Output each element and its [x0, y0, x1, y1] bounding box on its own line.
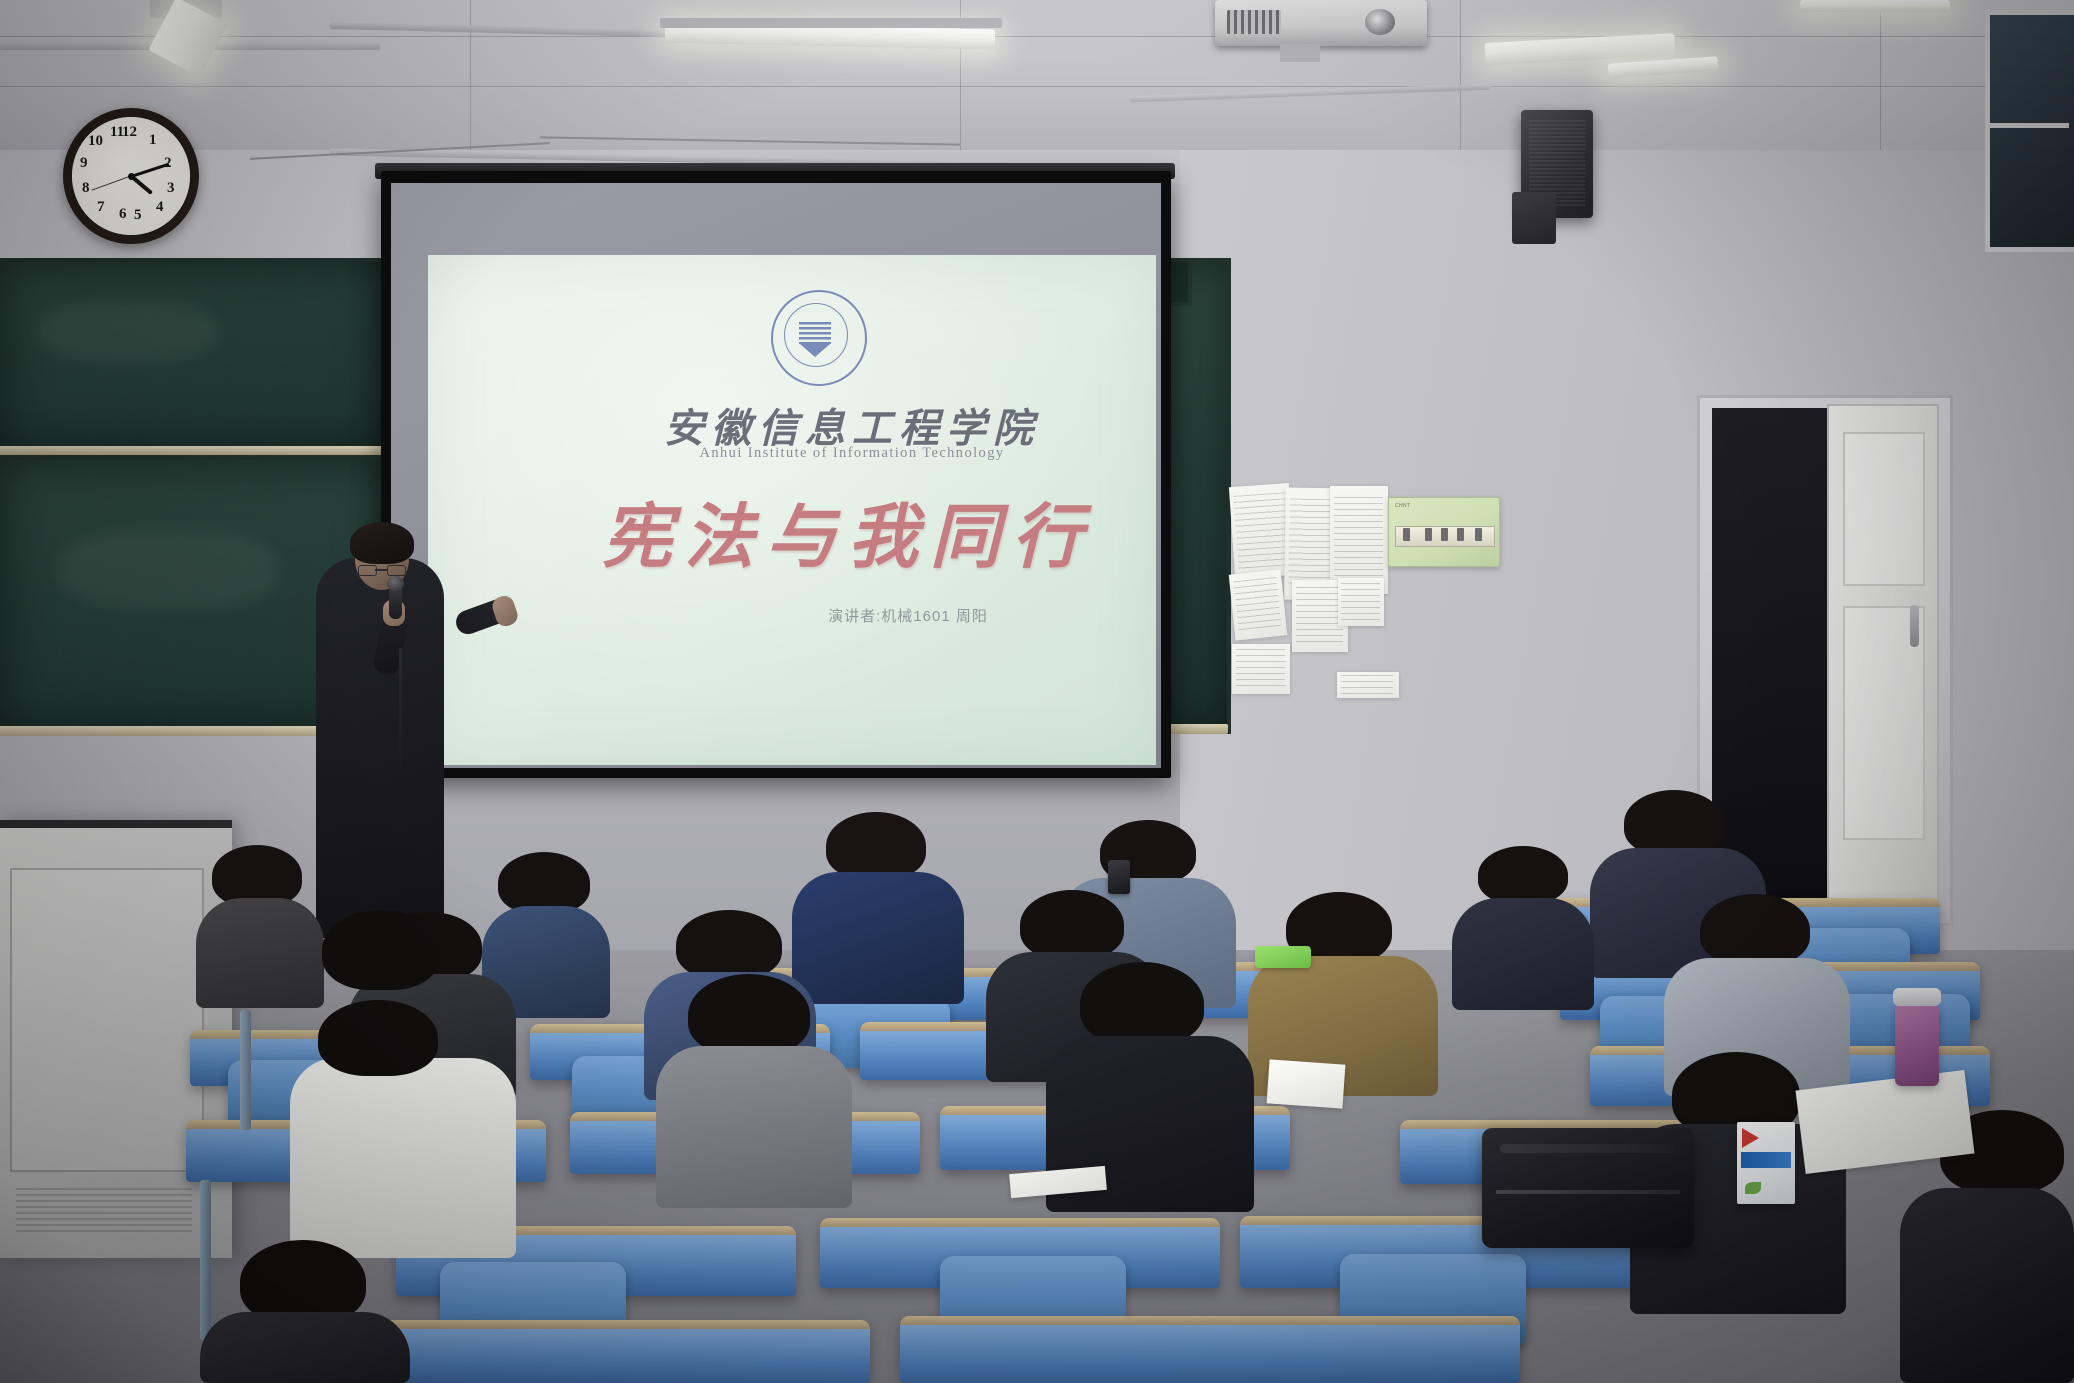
slide-institution-en: Anhui Institute of Information Technolog… [642, 445, 1062, 462]
window [1985, 10, 2074, 252]
projector-vent-icon [1227, 10, 1281, 34]
presenter-torso [316, 558, 444, 938]
speaker-mount-bracket [1512, 192, 1556, 244]
milk-logo-icon [1742, 1128, 1759, 1148]
mobile-phone[interactable] [1108, 860, 1130, 894]
door-panel [1843, 432, 1925, 586]
chalk-rail [0, 446, 386, 455]
doorway-opening [1712, 408, 1827, 908]
chalkboard-left-upper [0, 258, 394, 456]
green-object [1255, 946, 1311, 968]
clock-number: 1 [149, 132, 157, 149]
wall-notice [1338, 578, 1384, 626]
ceiling-projector [1215, 0, 1427, 46]
wall-clock: 12 1 2 3 4 5 6 7 8 9 10 11 [63, 108, 199, 244]
clock-number: 5 [134, 207, 142, 224]
bag-zipper-icon [1496, 1190, 1680, 1194]
lectern-cabinet-door [10, 868, 204, 1172]
breaker-switch [1425, 528, 1432, 541]
presentation-slide: 安徽信息工程学院 Anhui Institute of Information … [428, 255, 1156, 765]
clock-number: 4 [156, 199, 164, 216]
seal-book-icon [799, 322, 831, 344]
desk [900, 1316, 1520, 1383]
ceiling-seam [470, 0, 471, 150]
ceiling-light [1800, 0, 1950, 12]
paper-sheet [1267, 1059, 1346, 1108]
slide-byline: 演讲者:机械1601 周阳 [728, 605, 1088, 626]
clock-number: 7 [97, 199, 105, 216]
clock-number: 9 [80, 155, 88, 172]
ceiling-seam [0, 36, 2074, 37]
seal-chevron-icon [800, 344, 830, 357]
breaker-switch [1475, 528, 1482, 541]
microphone-head-icon [387, 576, 404, 591]
door-leaf[interactable] [1827, 404, 1939, 914]
water-bottle-lid [1893, 988, 1941, 1006]
desk-leg [200, 1180, 211, 1340]
window-mullion [1990, 123, 2069, 128]
clock-center-pin [128, 173, 135, 180]
microphone-cord [399, 648, 402, 798]
clock-number: 8 [82, 180, 90, 197]
clock-number: 11 [110, 124, 124, 141]
glasses-icon [358, 565, 404, 574]
panel-brand-label: CHNT [1395, 503, 1411, 509]
ceiling-seam [0, 86, 2074, 87]
electrical-panel: CHNT [1388, 497, 1500, 567]
wall-notice [1232, 644, 1290, 694]
breaker-switch [1457, 528, 1464, 541]
ceiling-seam [1880, 0, 1881, 150]
water-bottle [1895, 1002, 1939, 1086]
breaker-switch [1403, 528, 1410, 541]
classroom-scene: 12 1 2 3 4 5 6 7 8 9 10 11 [0, 0, 2074, 1383]
university-seal-icon [771, 290, 867, 386]
clock-number: 6 [119, 206, 127, 223]
wall-notice [1229, 569, 1288, 640]
bag-strap [1500, 1144, 1676, 1153]
presenter-hair [350, 522, 414, 564]
clock-number: 3 [167, 180, 175, 197]
door-handle[interactable] [1910, 605, 1919, 647]
milk-label-band [1741, 1152, 1791, 1168]
breaker-switch [1441, 528, 1448, 541]
clock-number: 12 [122, 124, 137, 141]
projector-mount [1280, 44, 1320, 62]
slide-main-title: 宪法与我同行 [568, 481, 1128, 582]
lectern-vent-icon [16, 1188, 192, 1236]
light-housing [660, 18, 1002, 28]
ceiling [0, 0, 2074, 150]
desk-leg [240, 1010, 251, 1130]
milk-carton [1737, 1122, 1795, 1204]
milk-leaf-icon [1745, 1182, 1761, 1194]
wall-notice [1337, 672, 1399, 698]
projector-lens-icon [1365, 9, 1395, 35]
ceiling-seam [1460, 0, 1461, 150]
laptop-bag [1482, 1128, 1694, 1248]
clock-number: 10 [88, 133, 103, 150]
